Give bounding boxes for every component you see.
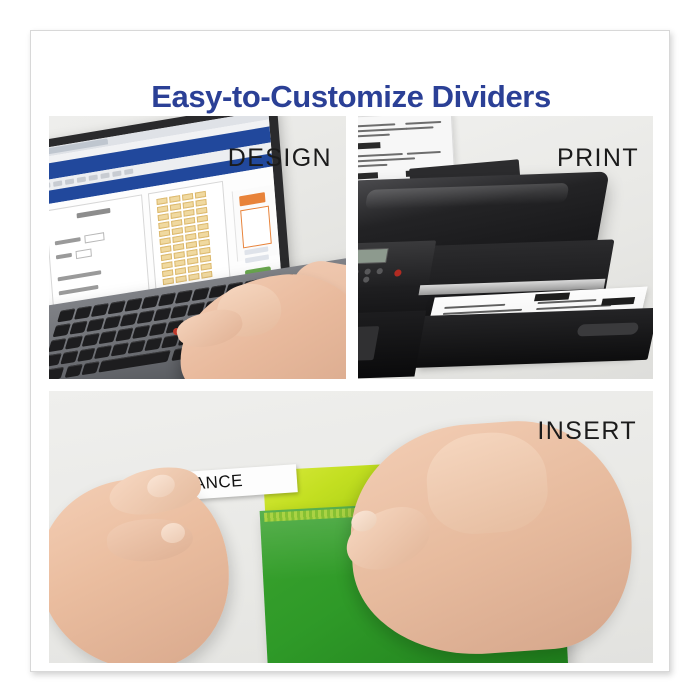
panel-design: DESIGN <box>49 116 346 379</box>
form-label <box>55 237 81 245</box>
panel-print: PRINT <box>358 116 653 379</box>
panel-label-design: DESIGN <box>228 144 332 173</box>
printer-lcd-display <box>358 248 389 264</box>
design-side-panel <box>232 185 278 262</box>
form-label <box>58 270 102 281</box>
tray-handle[interactable] <box>576 322 639 336</box>
printer-output-tray <box>405 308 653 368</box>
panel-label-insert: INSERT <box>537 417 637 446</box>
form-card-title <box>77 208 111 219</box>
product-feature-image: Easy-to-Customize Dividers <box>0 0 700 700</box>
panel-insert: FINANCE INSERT <box>49 391 653 663</box>
divider-preview <box>240 206 272 249</box>
form-label <box>56 253 72 260</box>
form-input[interactable] <box>84 232 104 243</box>
selected-template-badge <box>239 192 265 206</box>
image-frame: Easy-to-Customize Dividers <box>30 30 670 672</box>
panel-label-print: PRINT <box>557 144 639 173</box>
lid-highlight <box>365 183 570 210</box>
printer-power-button[interactable] <box>394 269 402 276</box>
side-action-button[interactable] <box>245 254 269 263</box>
printer-vent <box>358 326 379 361</box>
page-title: Easy-to-Customize Dividers <box>31 79 671 115</box>
printer-control-panel[interactable] <box>358 240 436 287</box>
form-label <box>59 285 99 296</box>
form-input[interactable] <box>76 248 92 259</box>
